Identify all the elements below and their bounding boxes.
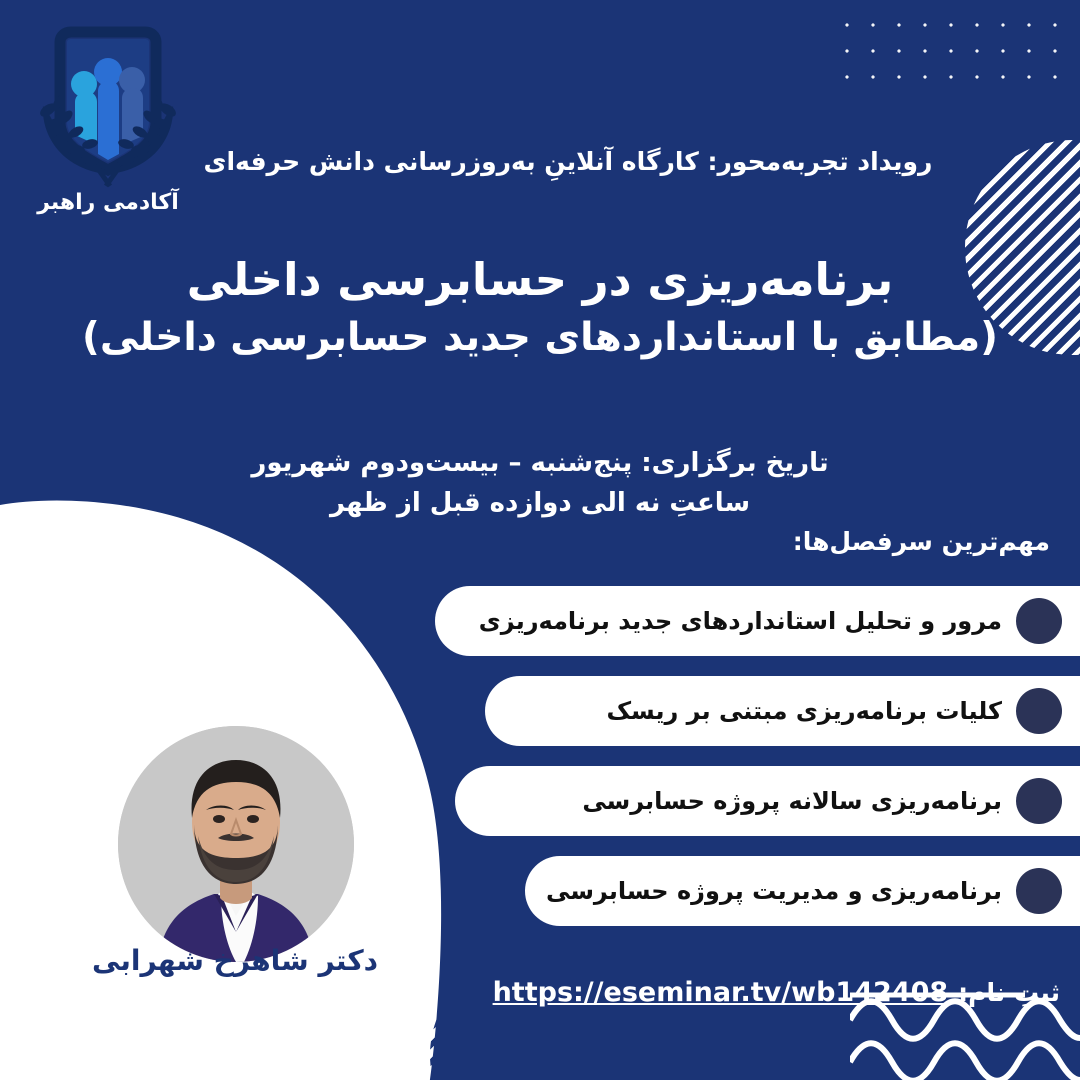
bullet-dot-icon [1016, 688, 1062, 734]
list-item: برنامه‌ریزی سالانه پروژه حسابرسی [425, 766, 1080, 856]
topic-pill: برنامه‌ریزی سالانه پروژه حسابرسی [455, 766, 1080, 836]
bullet-dot-icon [1016, 778, 1062, 824]
topic-pill: مرور و تحلیل استانداردهای جدید برنامه‌ری… [435, 586, 1080, 656]
event-time: ساعتِ نه الی دوازده قبل از ظهر [60, 483, 1020, 523]
event-poster: آکادمی راهبر رویداد تجربه‌محور: کارگاه آ… [0, 0, 1080, 1080]
academy-name: آکادمی راهبر [18, 190, 198, 215]
registration-label: ثبتِ نام: [958, 978, 1060, 1007]
topic-label: کلیات برنامه‌ریزی مبتنی بر ریسک [485, 697, 1002, 725]
topic-label: برنامه‌ریزی و مدیریت پروژه حسابرسی [525, 877, 1002, 905]
event-date: تاریخ برگزاری: پنج‌شنبه – بیست‌ودوم شهری… [60, 443, 1020, 483]
dot-grid-icon [830, 8, 1070, 98]
speaker-name: دکتر شاهرخ شهرابی [0, 944, 470, 977]
event-schedule: تاریخ برگزاری: پنج‌شنبه – بیست‌ودوم شهری… [60, 443, 1020, 524]
topics-heading: مهم‌ترین سرفصل‌ها: [793, 527, 1050, 556]
list-item: برنامه‌ریزی و مدیریت پروژه حسابرسی [425, 856, 1080, 946]
list-item: مرور و تحلیل استانداردهای جدید برنامه‌ری… [425, 586, 1080, 676]
topic-label: برنامه‌ریزی سالانه پروژه حسابرسی [455, 787, 1002, 815]
topics-list: مرور و تحلیل استانداردهای جدید برنامه‌ری… [425, 586, 1080, 946]
avatar [118, 726, 354, 962]
bullet-dot-icon [1016, 868, 1062, 914]
bullet-dot-icon [1016, 598, 1062, 644]
registration-url-link[interactable]: https://eseminar.tv/wb142408 [493, 977, 949, 1008]
topic-pill: برنامه‌ریزی و مدیریت پروژه حسابرسی [525, 856, 1080, 926]
topic-pill: کلیات برنامه‌ریزی مبتنی بر ریسک [485, 676, 1080, 746]
event-eyebrow-text: رویداد تجربه‌محور: کارگاه آنلاینِ به‌روز… [118, 146, 1018, 179]
topic-label: مرور و تحلیل استانداردهای جدید برنامه‌ری… [435, 607, 1002, 635]
registration-line: ثبتِ نام: https://eseminar.tv/wb142408 [493, 977, 1060, 1008]
title-line-1: برنامه‌ریزی در حسابرسی داخلی [187, 253, 894, 306]
list-item: کلیات برنامه‌ریزی مبتنی بر ریسک [425, 676, 1080, 766]
page-title: برنامه‌ریزی در حسابرسی داخلی (مطابق با ا… [40, 252, 1040, 363]
title-line-2: (مطابق با استانداردهای جدید حسابرسی داخل… [40, 314, 1040, 363]
